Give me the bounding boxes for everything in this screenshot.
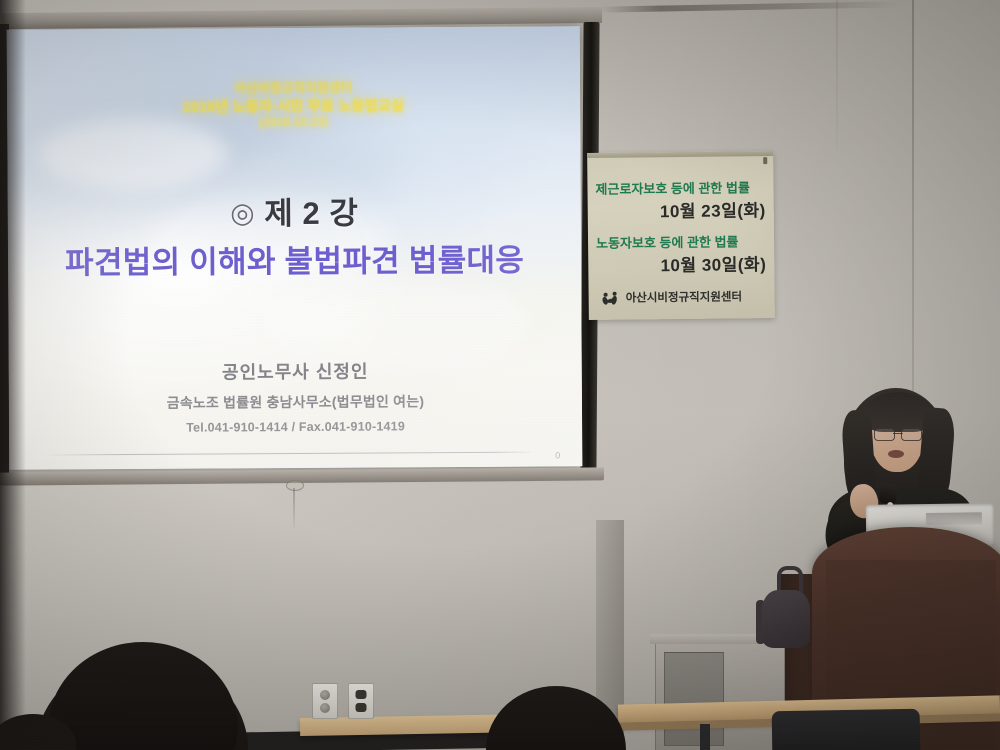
backpack	[762, 590, 810, 648]
banner-date-2: 10월 30일(화)	[596, 250, 766, 277]
slide-title-text: 제 2 강	[264, 196, 358, 232]
slide-presenter-block: 공인노무사 신정인 금속노조 법률원 충남사무소(법무법인 여는) Tel.04…	[9, 356, 582, 435]
chair-leg	[700, 724, 710, 750]
glasses-icon	[874, 428, 922, 439]
projector-screen: 아산비정규직지원센터 2018년 노동자·시민 무료 노동법교실 (2018.1…	[0, 10, 612, 490]
presenter-organization: 금속노조 법률원 충남사무소(법무법인 여는)	[9, 390, 582, 413]
banner-organization-name: 아산시비정규직지원센터	[626, 288, 743, 305]
banner-topic-1: 제근로자보호 등에 관한 법률	[595, 177, 765, 198]
left-edge-shadow	[0, 0, 26, 750]
wall-banner: 제근로자보호 등에 관한 법률 10월 23일(화) 노동자보호 등에 관한 법…	[587, 151, 775, 320]
banner-grommet	[763, 157, 767, 164]
screen-pull-ring[interactable]	[286, 480, 304, 491]
bullseye-icon: ◎	[230, 197, 255, 228]
banner-date-1: 10월 23일(화)	[596, 196, 766, 223]
wall-seam-secondary	[836, 0, 838, 150]
slide-subtitle: 파견법의 이해와 불법파견 법률대응	[8, 234, 581, 282]
power-outlet-icon	[312, 683, 338, 719]
banner-topic-2: 노동자보호 등에 관한 법률	[596, 231, 766, 252]
slide-header-block: 아산비정규직지원센터 2018년 노동자·시민 무료 노동법교실 (2018.1…	[7, 78, 580, 133]
projected-slide: 아산비정규직지원센터 2018년 노동자·시민 무료 노동법교실 (2018.1…	[7, 26, 583, 469]
network-jack-icon	[348, 683, 374, 719]
photo-scene: 아산비정규직지원센터 2018년 노동자·시민 무료 노동법교실 (2018.1…	[0, 0, 1000, 750]
banner-footer: 아산시비정규직지원센터	[603, 288, 743, 305]
screen-pull-cord[interactable]	[293, 488, 295, 528]
speaker-mouth	[888, 450, 904, 458]
presenter-name: 공인노무사 신정인	[9, 356, 582, 385]
chair-back[interactable]	[772, 709, 921, 750]
people-logo-icon	[603, 292, 621, 304]
banner-rod	[587, 151, 773, 158]
laptop-label	[926, 512, 982, 525]
slide-title: ◎ 제 2 강	[8, 186, 581, 234]
cabinet-door[interactable]	[664, 652, 724, 746]
slide-page-number: 0	[555, 450, 560, 460]
